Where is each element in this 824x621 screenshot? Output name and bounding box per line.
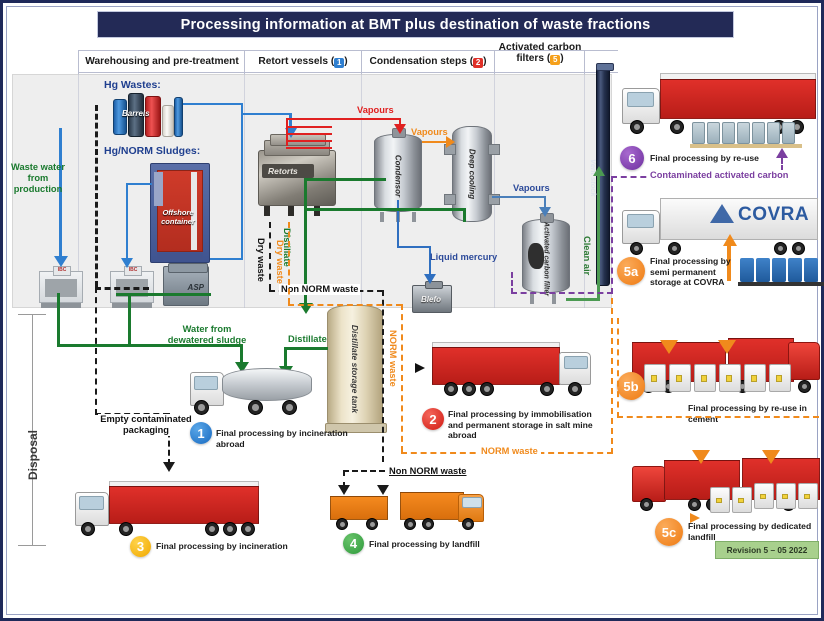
destination-caption-3: Final processing by incineration — [156, 541, 316, 552]
destination-caption-5c: Final processing by dedicated landfill — [688, 521, 824, 542]
norm-orange-v — [401, 304, 403, 452]
header-divider-4 — [584, 50, 585, 74]
destination-badge-2: 2 — [422, 408, 444, 430]
column-header-condensation-text: Condensation steps ( — [370, 56, 474, 67]
carbon-purple-h1 — [511, 292, 613, 294]
vapours-rung-1 — [286, 126, 332, 128]
norm-orange-v2 — [611, 298, 613, 454]
column-header-carbon-line2: filters (5) — [498, 53, 582, 65]
distillate-storage-tank-label: Distillate storage tank — [350, 325, 360, 413]
clean-air-arrow — [593, 166, 605, 176]
destination-caption-5a: Final processing by semi permanent stora… — [650, 256, 760, 288]
flow-sludge-h — [126, 183, 152, 185]
column-header-carbon: Activated carbon filters (5) — [498, 42, 582, 65]
blefo-label: Blefo — [421, 295, 441, 304]
label-vapours-1: Vapours — [357, 105, 394, 116]
condensor-label: Condensor — [394, 155, 403, 197]
retorts-label: Retorts — [268, 166, 298, 176]
flow-offshore-v1 — [241, 113, 243, 260]
activated-carbon-filter-label: Activated carbon filter — [543, 222, 550, 296]
label-norm-waste-vertical: NORM waste — [387, 330, 398, 387]
label-non-norm-waste-2: Non NORM waste — [387, 466, 468, 477]
retort-paren: ) — [344, 56, 347, 67]
barrels-group: Barrels — [113, 93, 183, 137]
deep-cooling-label: Deep cooling — [468, 149, 477, 199]
label-waste-water: Waste water from production — [6, 162, 70, 195]
dashed-empty-pkg-arrow — [163, 462, 175, 472]
disposal-brace-top — [18, 314, 46, 315]
water-sludge-v2 — [128, 293, 131, 345]
distillate-storage-tank: Distillate storage tank — [327, 305, 383, 433]
destination-caption-2: Final processing by immobilisation and p… — [448, 409, 608, 441]
diagram-title: Processing information at BMT plus desti… — [97, 11, 734, 38]
label-vapours-2: Vapours — [411, 127, 448, 138]
column-header-retort: Retort vessels (1) — [250, 56, 356, 68]
dry-waste-black-v — [269, 222, 271, 290]
offshore-container-label: Offshore container — [159, 208, 197, 226]
red-truck-2 — [428, 338, 593, 404]
label-norm-waste-horizontal: NORM waste — [478, 446, 541, 457]
condensation-paren: ) — [483, 56, 486, 67]
distillate-v2 — [463, 208, 466, 222]
asp-unit: ASP — [163, 266, 209, 306]
tanker-truck-1 — [190, 360, 314, 418]
covra-logo-icon — [710, 204, 734, 223]
column-header-condensation: Condensation steps (2) — [366, 56, 490, 68]
distillate-h1 — [304, 178, 386, 181]
non-norm-black-v — [382, 290, 384, 462]
water-sludge-asp — [116, 293, 211, 296]
column-header-carbon-line1: Activated carbon — [498, 42, 582, 53]
carbon-badge-icon: 5 — [550, 55, 560, 65]
flow-barrels-h1 — [183, 103, 243, 105]
covra-brand-text: COVRA — [738, 204, 809, 226]
label-clean-air: Clean air — [581, 236, 592, 275]
carbon-drums-group-6 — [692, 122, 810, 148]
vapours-rung-2 — [286, 133, 332, 135]
carbon-purple-v2 — [611, 176, 613, 294]
revision-box: Revision 5 – 05 2022 — [715, 541, 819, 559]
destination-caption-6: Final processing by re-use — [650, 153, 800, 164]
label-water-dewatered-sludge: Water from dewatered sludge — [152, 324, 262, 346]
dashed-empty-pkg-v1 — [95, 105, 98, 287]
label-dry-waste-orange: Dry waste — [274, 240, 285, 284]
flow-barrels-h2 — [241, 113, 291, 115]
mercury-arrow — [424, 274, 436, 284]
offshore-container: Offshore container — [150, 163, 210, 263]
arrow-5c-2 — [762, 450, 780, 464]
vapours-rung-4 — [286, 147, 332, 149]
destination-caption-1: Final processing by incineration abroad — [216, 428, 366, 449]
header-divider-2 — [361, 50, 362, 74]
header-bottom-rule — [78, 72, 618, 73]
flow-offshore-h1 — [210, 258, 242, 260]
label-contaminated-activated-carbon: Contaminated activated carbon — [648, 170, 790, 181]
vapours-arrow-3 — [539, 207, 551, 217]
label-hg-wastes: Hg Wastes: — [104, 80, 161, 91]
ibc-left-badge: IBC — [53, 266, 71, 276]
flow-sludge-v — [126, 183, 128, 263]
non-norm-black-h2 — [343, 470, 385, 472]
header-divider-0 — [78, 50, 79, 74]
vapours-b1 — [492, 196, 546, 198]
distillate-tank-h — [284, 347, 328, 350]
label-non-norm-waste-1: Non NORM waste — [279, 284, 360, 295]
label-distillate-horizontal: Distillate — [288, 334, 327, 345]
vapours-rung-3 — [286, 140, 332, 142]
water-sludge-v1 — [57, 293, 60, 345]
covra-truck-5a: COVRA — [622, 196, 818, 258]
panel-divider-3 — [494, 74, 495, 308]
destination-badge-6: 6 — [620, 146, 644, 170]
label-vapours-3: Vapours — [513, 183, 550, 194]
label-liquid-mercury: Liquid mercury — [430, 252, 497, 263]
condensation-badge-icon: 2 — [473, 58, 483, 68]
flow-sludge-arrow — [121, 258, 133, 268]
column-header-warehousing-text: Warehousing and pre-treatment — [85, 56, 239, 67]
dry-waste-orange-v — [288, 222, 290, 304]
destination-badge-3: 3 — [130, 536, 151, 557]
diagram-canvas: Processing information at BMT plus desti… — [0, 0, 824, 621]
column-header-warehousing: Warehousing and pre-treatment — [84, 56, 240, 67]
destination-badge-5c: 5c — [655, 518, 683, 546]
blefo-unit: Blefo — [412, 285, 452, 313]
dry-waste-orange-h — [288, 304, 402, 306]
header-divider-1 — [244, 50, 245, 74]
vapours-arrow-1 — [394, 124, 406, 134]
diagram-title-text: Processing information at BMT plus desti… — [181, 17, 651, 33]
label-disposal: Disposal — [26, 430, 40, 480]
clean-air-v — [597, 173, 600, 301]
header-divider-3 — [494, 50, 495, 74]
barrels-label: Barrels — [122, 109, 150, 118]
retort-badge-icon: 1 — [334, 58, 344, 68]
label-hg-norm-sludges: Hg/NORM Sludges: — [104, 146, 200, 157]
flow-waste-water-arrow — [54, 256, 68, 267]
panel-divider-1 — [244, 74, 245, 308]
destination-caption-4: Final processing by landfill — [369, 539, 519, 550]
destination-badge-4: 4 — [343, 533, 364, 554]
label-empty-packaging: Empty contaminated packaging — [98, 414, 194, 436]
distillate-h2 — [304, 208, 466, 211]
dashed-empty-pkg-v2 — [95, 287, 97, 415]
mercury-h1 — [397, 246, 431, 248]
arrow-5c-1 — [692, 450, 710, 464]
dashed-empty-pkg-h1 — [95, 287, 149, 290]
destination-badge-1: 1 — [190, 422, 212, 444]
disposal-brace-bottom — [18, 545, 46, 546]
bigbags-5c — [710, 483, 822, 515]
label-dry-waste-black: Dry waste — [255, 238, 266, 282]
red-truck-3 — [75, 478, 263, 540]
column-header-retort-text: Retort vessels ( — [258, 56, 334, 67]
dashed-box-5b — [617, 318, 819, 418]
ibc-container-left: IBC — [37, 265, 85, 309]
destination-2-inlet-arrow — [415, 363, 425, 373]
destination-badge-5a: 5a — [617, 257, 645, 285]
carbon-purple-v1 — [511, 272, 513, 294]
revision-text: Revision 5 – 05 2022 — [727, 545, 808, 555]
asp-label: ASP — [188, 283, 204, 292]
clean-air-h — [566, 298, 600, 301]
vapours-r2 — [286, 118, 401, 120]
